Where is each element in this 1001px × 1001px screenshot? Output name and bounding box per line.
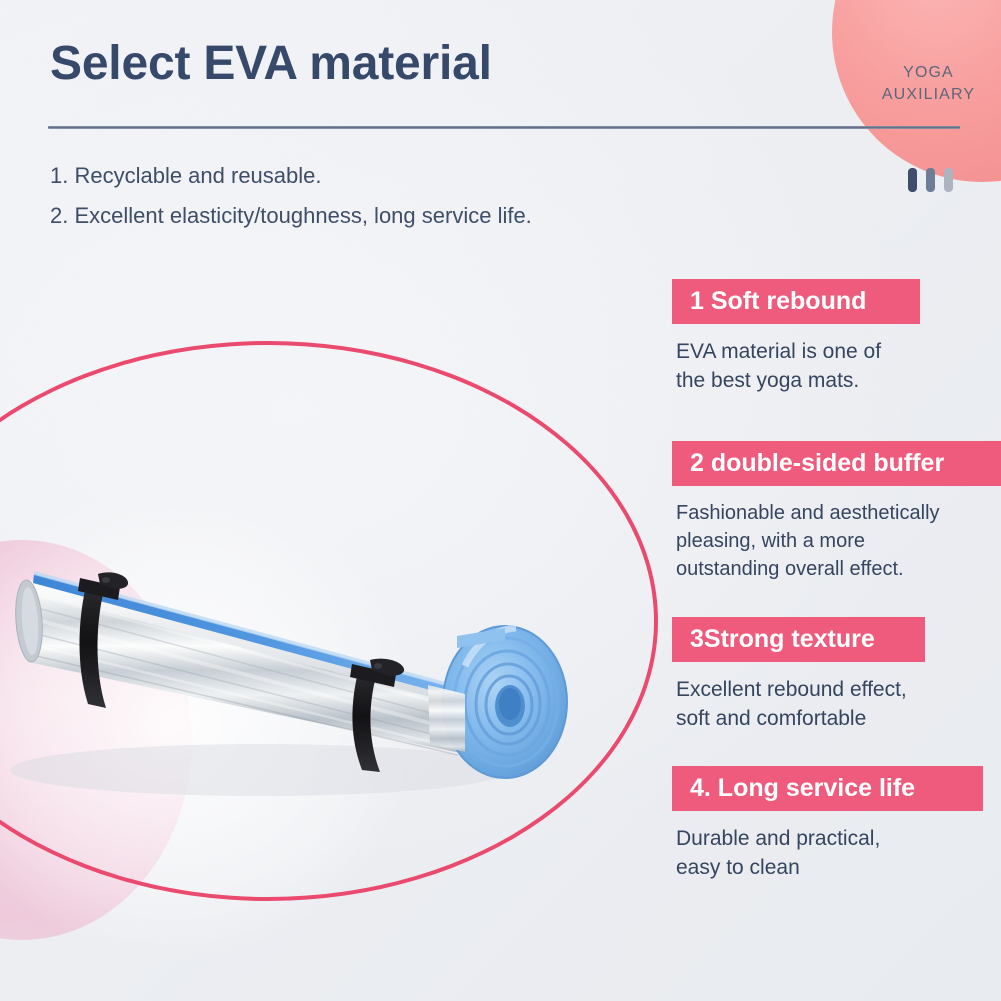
brand-label: YOGA AUXILIARY xyxy=(856,62,1001,106)
feature-badge: 3Strong texture xyxy=(672,617,925,662)
feature-item-strong-texture: 3Strong texture Excellent rebound effect… xyxy=(672,617,1001,733)
feature-description: EVA material is one of the best yoga mat… xyxy=(676,337,1001,395)
intro-list: 1. Recyclable and reusable. 2. Excellent… xyxy=(50,156,532,236)
brand-bars-decoration xyxy=(908,168,953,192)
intro-list-item: 1. Recyclable and reusable. xyxy=(50,156,532,196)
brand-bar-3 xyxy=(944,168,953,192)
intro-list-item: 2. Excellent elasticity/toughness, long … xyxy=(50,196,532,236)
infographic-page: Select EVA material YOGA AUXILIARY 1. Re… xyxy=(0,0,1001,1001)
brand-bar-2 xyxy=(926,168,935,192)
feature-item-double-sided-buffer: 2 double-sided buffer Fashionable and ae… xyxy=(672,441,1001,583)
feature-item-long-service-life: 4. Long service life Durable and practic… xyxy=(672,766,1001,882)
brand-bar-1 xyxy=(908,168,917,192)
page-title: Select EVA material xyxy=(50,36,492,91)
feature-item-soft-rebound: 1 Soft rebound EVA material is one of th… xyxy=(672,279,1001,395)
feature-badge: 2 double-sided buffer xyxy=(672,441,1001,486)
brand-line-2: AUXILIARY xyxy=(856,84,1001,106)
feature-description: Fashionable and aesthetically pleasing, … xyxy=(676,499,1001,583)
feature-list: 1 Soft rebound EVA material is one of th… xyxy=(672,279,1001,882)
feature-description: Excellent rebound effect, soft and comfo… xyxy=(676,675,1001,733)
feature-badge: 1 Soft rebound xyxy=(672,279,920,324)
brand-line-1: YOGA xyxy=(856,62,1001,84)
feature-description: Durable and practical, easy to clean xyxy=(676,824,1001,882)
feature-badge: 4. Long service life xyxy=(672,766,983,811)
header-divider xyxy=(48,126,960,129)
